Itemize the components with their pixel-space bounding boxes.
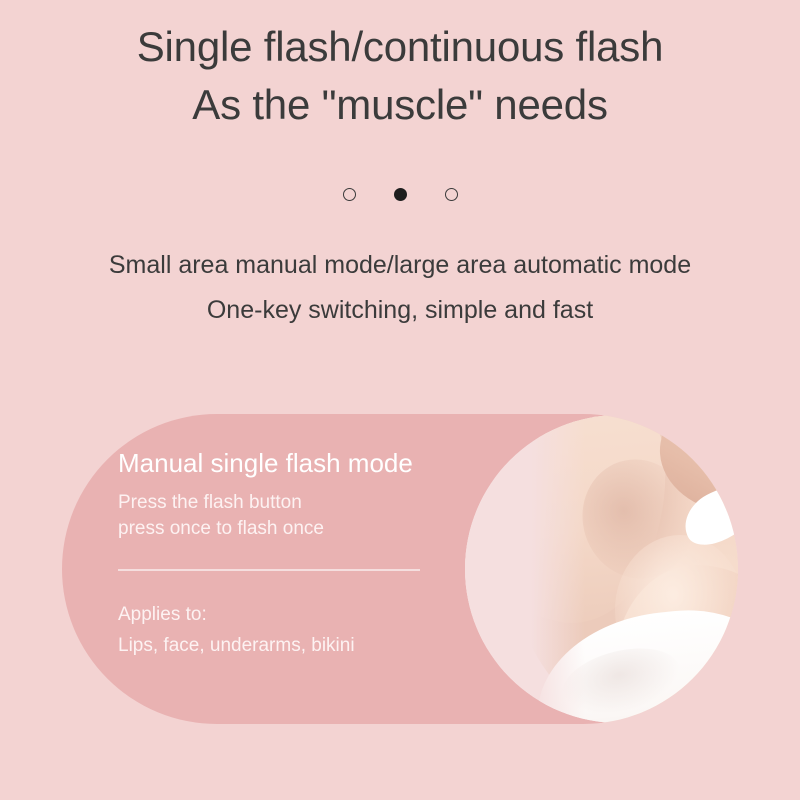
carousel-dots[interactable] [0,188,800,201]
card-divider [118,569,420,571]
card-applies-block: Applies to: Lips, face, underarms, bikin… [118,599,498,661]
applies-label: Applies to: [118,599,498,630]
applies-value: Lips, face, underarms, bikini [118,630,498,661]
card-description-line-2: press once to flash once [118,516,498,542]
subheadline-line-2: One-key switching, simple and fast [0,288,800,333]
headline-line-1: Single flash/continuous flash [0,18,800,76]
card-text-block: Manual single flash mode Press the flash… [118,446,498,542]
photo-backdrop [465,415,738,723]
underarm-photo [465,415,738,723]
page-title: Single flash/continuous flash As the "mu… [0,18,800,134]
promo-page: Single flash/continuous flash As the "mu… [0,0,800,800]
card-title: Manual single flash mode [118,446,498,480]
carousel-dot-1[interactable] [343,188,356,201]
carousel-dot-3[interactable] [445,188,458,201]
headline-line-2: As the "muscle" needs [0,76,800,134]
page-subtitle: Small area manual mode/large area automa… [0,243,800,333]
subheadline-line-1: Small area manual mode/large area automa… [0,243,800,288]
carousel-dot-2-active[interactable] [394,188,407,201]
mode-card: Manual single flash mode Press the flash… [62,414,738,724]
card-description-line-1: Press the flash button [118,490,498,516]
photo-left-fade [465,415,585,723]
